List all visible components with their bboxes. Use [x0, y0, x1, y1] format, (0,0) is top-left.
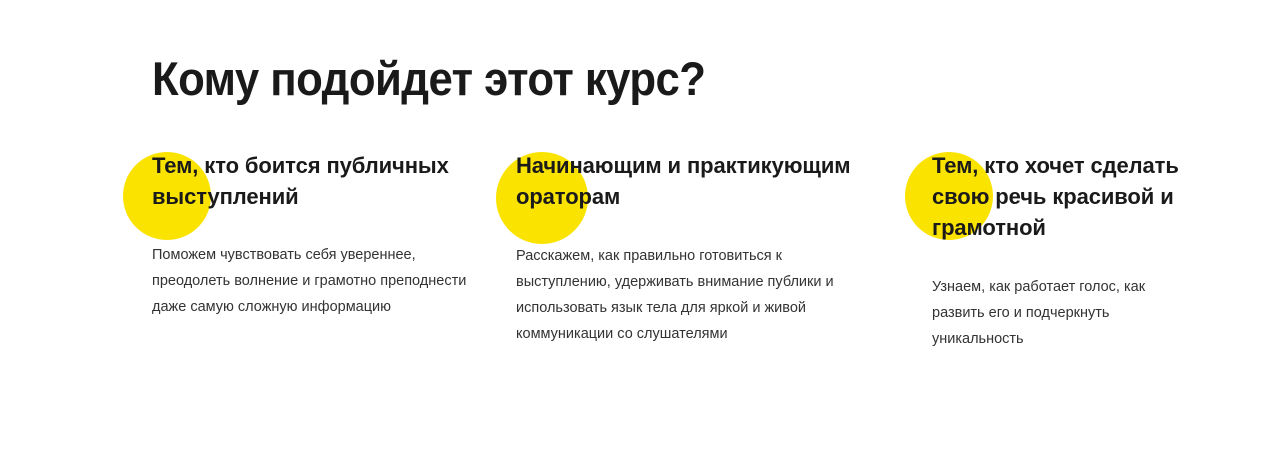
card-heading: Начинающим и практикующим ораторам [516, 150, 856, 212]
audience-card-3: Тем, кто хочет сделать свою речь красиво… [932, 150, 1202, 352]
heading-with-highlight: Начинающим и практикующим ораторам [516, 150, 856, 212]
card-body-text: Поможем чувствовать себя увереннее, прео… [152, 242, 472, 320]
course-audience-section: Кому подойдет этот курс? Тем, кто боится… [0, 0, 1280, 452]
audience-card-2: Начинающим и практикующим ораторам Расск… [516, 150, 856, 347]
heading-with-highlight: Тем, кто боится публичных выступлений [152, 150, 472, 212]
card-heading: Тем, кто хочет сделать свою речь красиво… [932, 150, 1202, 243]
audience-card-1: Тем, кто боится публичных выступлений По… [152, 150, 472, 320]
card-body-text: Узнаем, как работает голос, как развить … [932, 274, 1194, 352]
page-title: Кому подойдет этот курс? [152, 52, 705, 106]
card-heading: Тем, кто боится публичных выступлений [152, 150, 472, 212]
audience-columns: Тем, кто боится публичных выступлений По… [0, 150, 1280, 410]
heading-with-highlight: Тем, кто хочет сделать свою речь красиво… [932, 150, 1202, 243]
card-body-text: Расскажем, как правильно готовиться к вы… [516, 243, 856, 347]
